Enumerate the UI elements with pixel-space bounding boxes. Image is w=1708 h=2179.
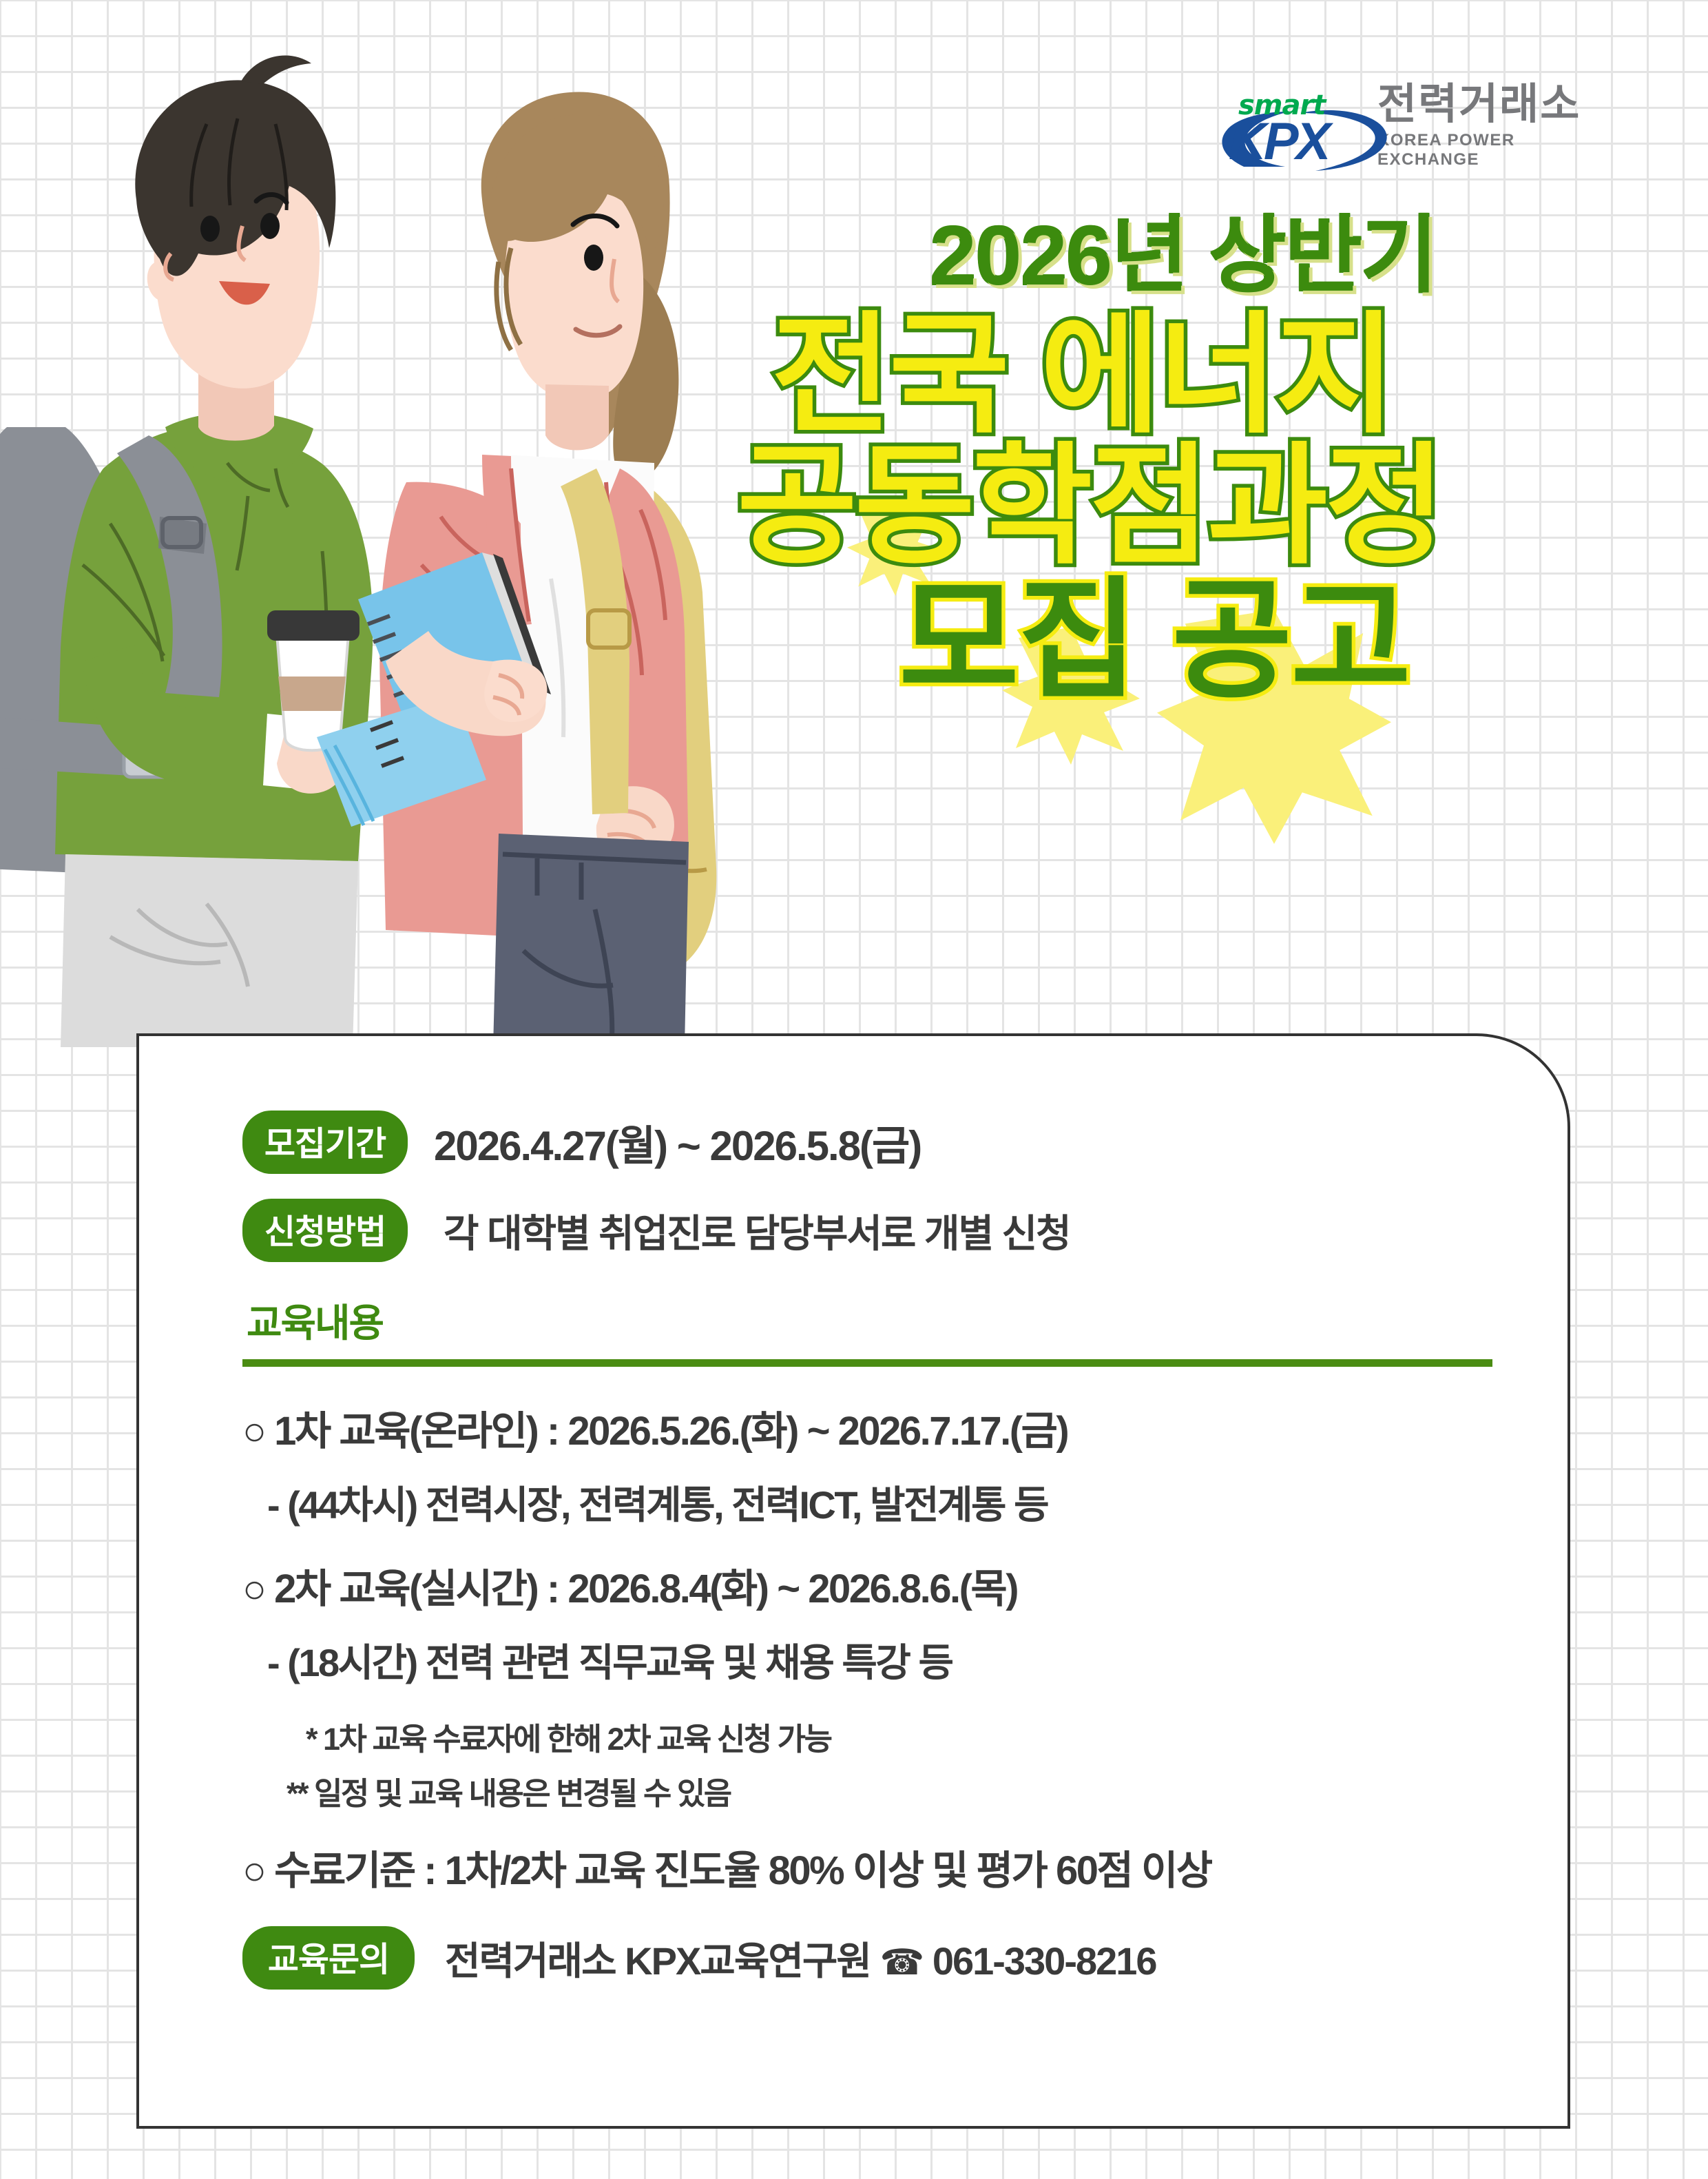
kpx-logo-mark: smart KPX <box>1219 90 1368 172</box>
education-content-heading: 교육내용 <box>247 1292 1526 1348</box>
details-rows: 모집기간 2026.4.27(월) ~ 2026.5.8(금) 신청방법 각 대… <box>242 1111 1526 1990</box>
logo-korean-name: 전력거래소 <box>1377 83 1581 126</box>
badge-recruitment-period: 모집기간 <box>242 1111 408 1174</box>
badge-application-method: 신청방법 <box>242 1199 408 1262</box>
logo-kpx-text: KPX <box>1229 112 1328 172</box>
education-note-1: * 1차 교육 수료자에 한해 2차 교육 신청 가능 <box>306 1714 1526 1759</box>
education-item-1: ○ 1차 교육(온라인) : 2026.5.26.(화) ~ 2026.7.17… <box>242 1398 1526 1456</box>
education-heading-divider <box>242 1359 1492 1367</box>
row-application-method: 신청방법 각 대학별 취업진로 담당부서로 개별 신청 <box>242 1199 1526 1262</box>
poster-title: 2026년 상반기 전국 에너지 공동학점과정 모집 공고 <box>730 200 1667 889</box>
row-contact: 교육문의 전력거래소 KPX교육연구원 ☎ 061-330-8216 <box>242 1926 1526 1990</box>
education-item-3: ○ 2차 교육(실시간) : 2026.8.4(화) ~ 2026.8.6.(목… <box>242 1556 1526 1614</box>
education-completion-criteria: ○ 수료기준 : 1차/2차 교육 진도율 80% 이상 및 평가 60점 이상 <box>242 1838 1526 1896</box>
row-recruitment-period: 모집기간 2026.4.27(월) ~ 2026.5.8(금) <box>242 1111 1526 1174</box>
details-card: 모집기간 2026.4.27(월) ~ 2026.5.8(금) 신청방법 각 대… <box>136 1033 1570 2129</box>
poster-root: smart KPX 전력거래소 KOREA POWER EXCHANGE 202… <box>0 0 1708 2179</box>
contact-organization: 전력거래소 KPX교육연구원 <box>445 1939 871 1983</box>
telephone-icon: ☎ <box>879 1943 923 1983</box>
kpx-logo: smart KPX 전력거래소 KOREA POWER EXCHANGE <box>1219 86 1591 172</box>
logo-english-name: KOREA POWER EXCHANGE <box>1377 131 1591 169</box>
contact-value: 전력거래소 KPX교육연구원 ☎ 061-330-8216 <box>445 1930 1156 1986</box>
title-line-year: 2026년 상반기 <box>930 214 1437 298</box>
badge-contact: 교육문의 <box>242 1926 415 1990</box>
title-line-two: 전국 에너지 <box>771 310 1393 441</box>
education-note-2: ** 일정 및 교육 내용은 변경될 수 있음 <box>287 1768 1526 1813</box>
application-method-value: 각 대학별 취업진로 담당부서로 개별 신청 <box>444 1203 1070 1259</box>
contact-phone-number: 061-330-8216 <box>933 1939 1156 1983</box>
logo-korean-block: 전력거래소 KOREA POWER EXCHANGE <box>1377 83 1591 172</box>
title-line-four: 모집 공고 <box>899 575 1410 706</box>
education-item-2: - (44차시) 전력시장, 전력계통, 전력ICT, 발전계통 등 <box>267 1474 1526 1530</box>
recruitment-period-value: 2026.4.27(월) ~ 2026.5.8(금) <box>434 1113 921 1173</box>
education-item-4: - (18시간) 전력 관련 직무교육 및 채용 특강 등 <box>267 1632 1526 1688</box>
title-line-three: 공동학점과정 <box>737 441 1443 572</box>
